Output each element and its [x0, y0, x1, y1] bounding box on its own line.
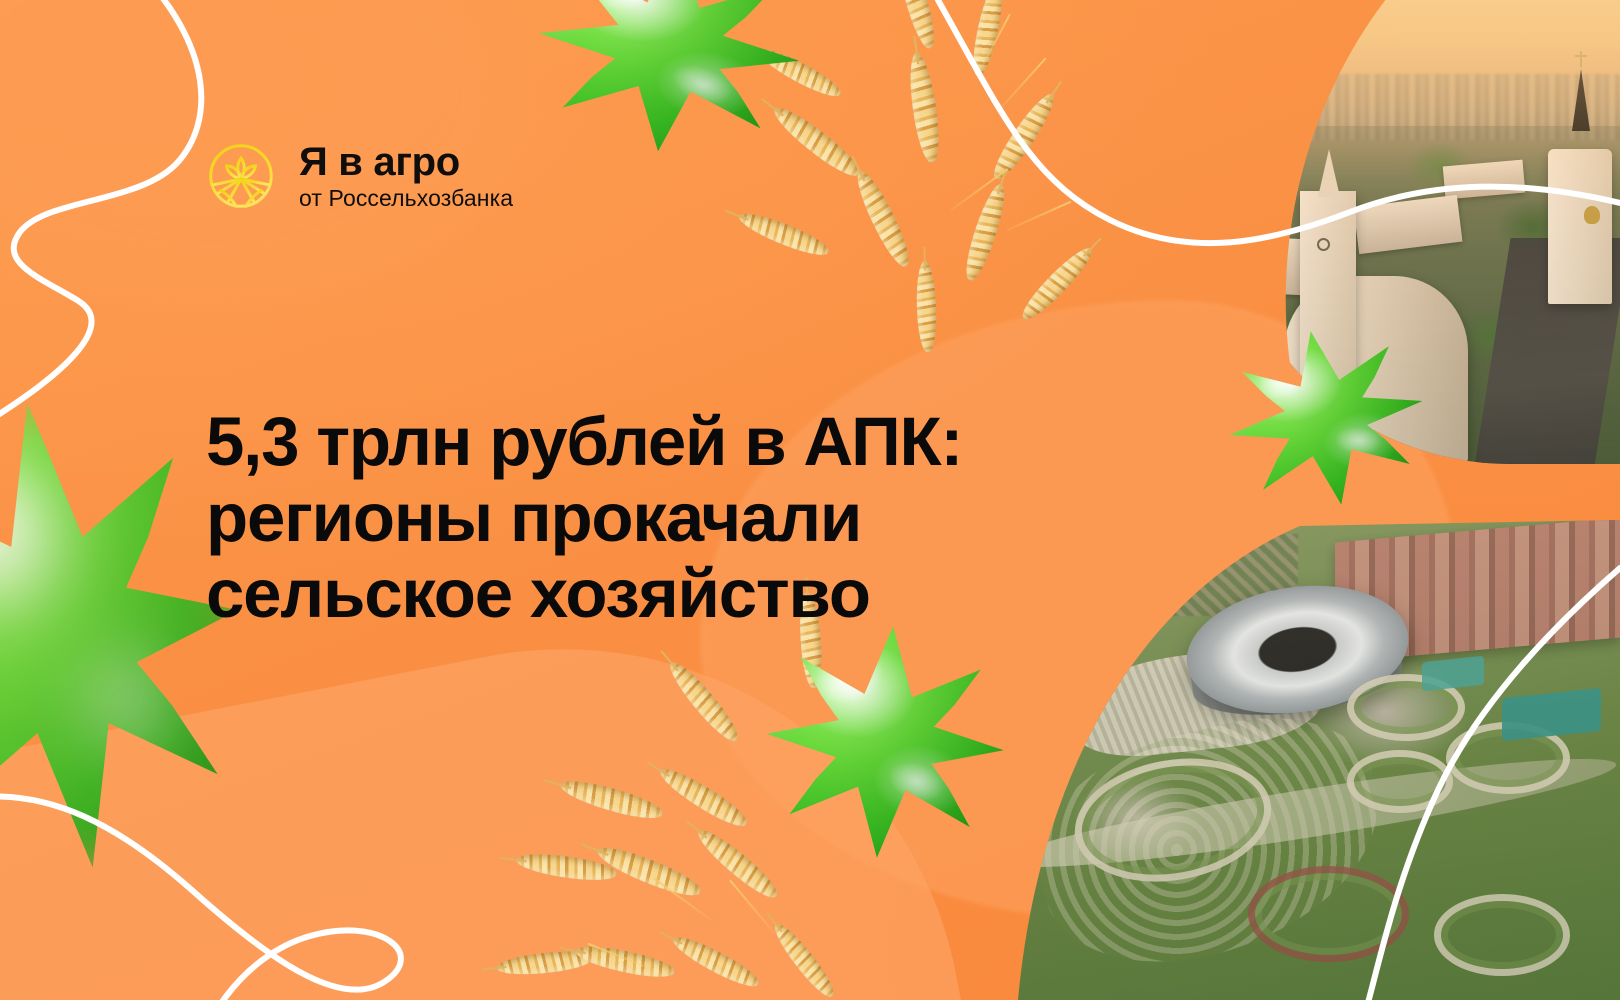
- wheat-cluster-bottom: [560, 600, 900, 1000]
- page-title: 5,3 трлн рублей в АПК: регионы прокачали…: [206, 404, 1136, 632]
- white-squiggle-bottom-left: [0, 630, 540, 1000]
- wheat-ear: [573, 941, 676, 982]
- logo-title: Я в агро: [299, 141, 513, 183]
- wheat-ear: [905, 51, 943, 164]
- wheat-ear: [663, 656, 744, 747]
- white-squiggle-top-right: [880, 150, 1620, 350]
- logo-text-block: Я в агро от Россельхозбанка: [299, 141, 513, 211]
- wheat-ear: [669, 930, 763, 993]
- white-squiggle-bottom-right: [1180, 540, 1620, 1000]
- brand-logo[interactable]: Я в агро от Россельхозбанка: [205, 140, 513, 212]
- promo-banner: Я в агро от Россельхозбанка 5,3 трлн руб…: [0, 0, 1620, 1000]
- wheat-ear: [692, 823, 783, 904]
- logo-subtitle: от Россельхозбанка: [299, 185, 513, 211]
- wheat-ear: [557, 774, 665, 824]
- wheat-ear: [655, 762, 752, 833]
- sprout-in-circle-emblem-icon: [205, 140, 277, 212]
- wheat-ear: [768, 918, 839, 1000]
